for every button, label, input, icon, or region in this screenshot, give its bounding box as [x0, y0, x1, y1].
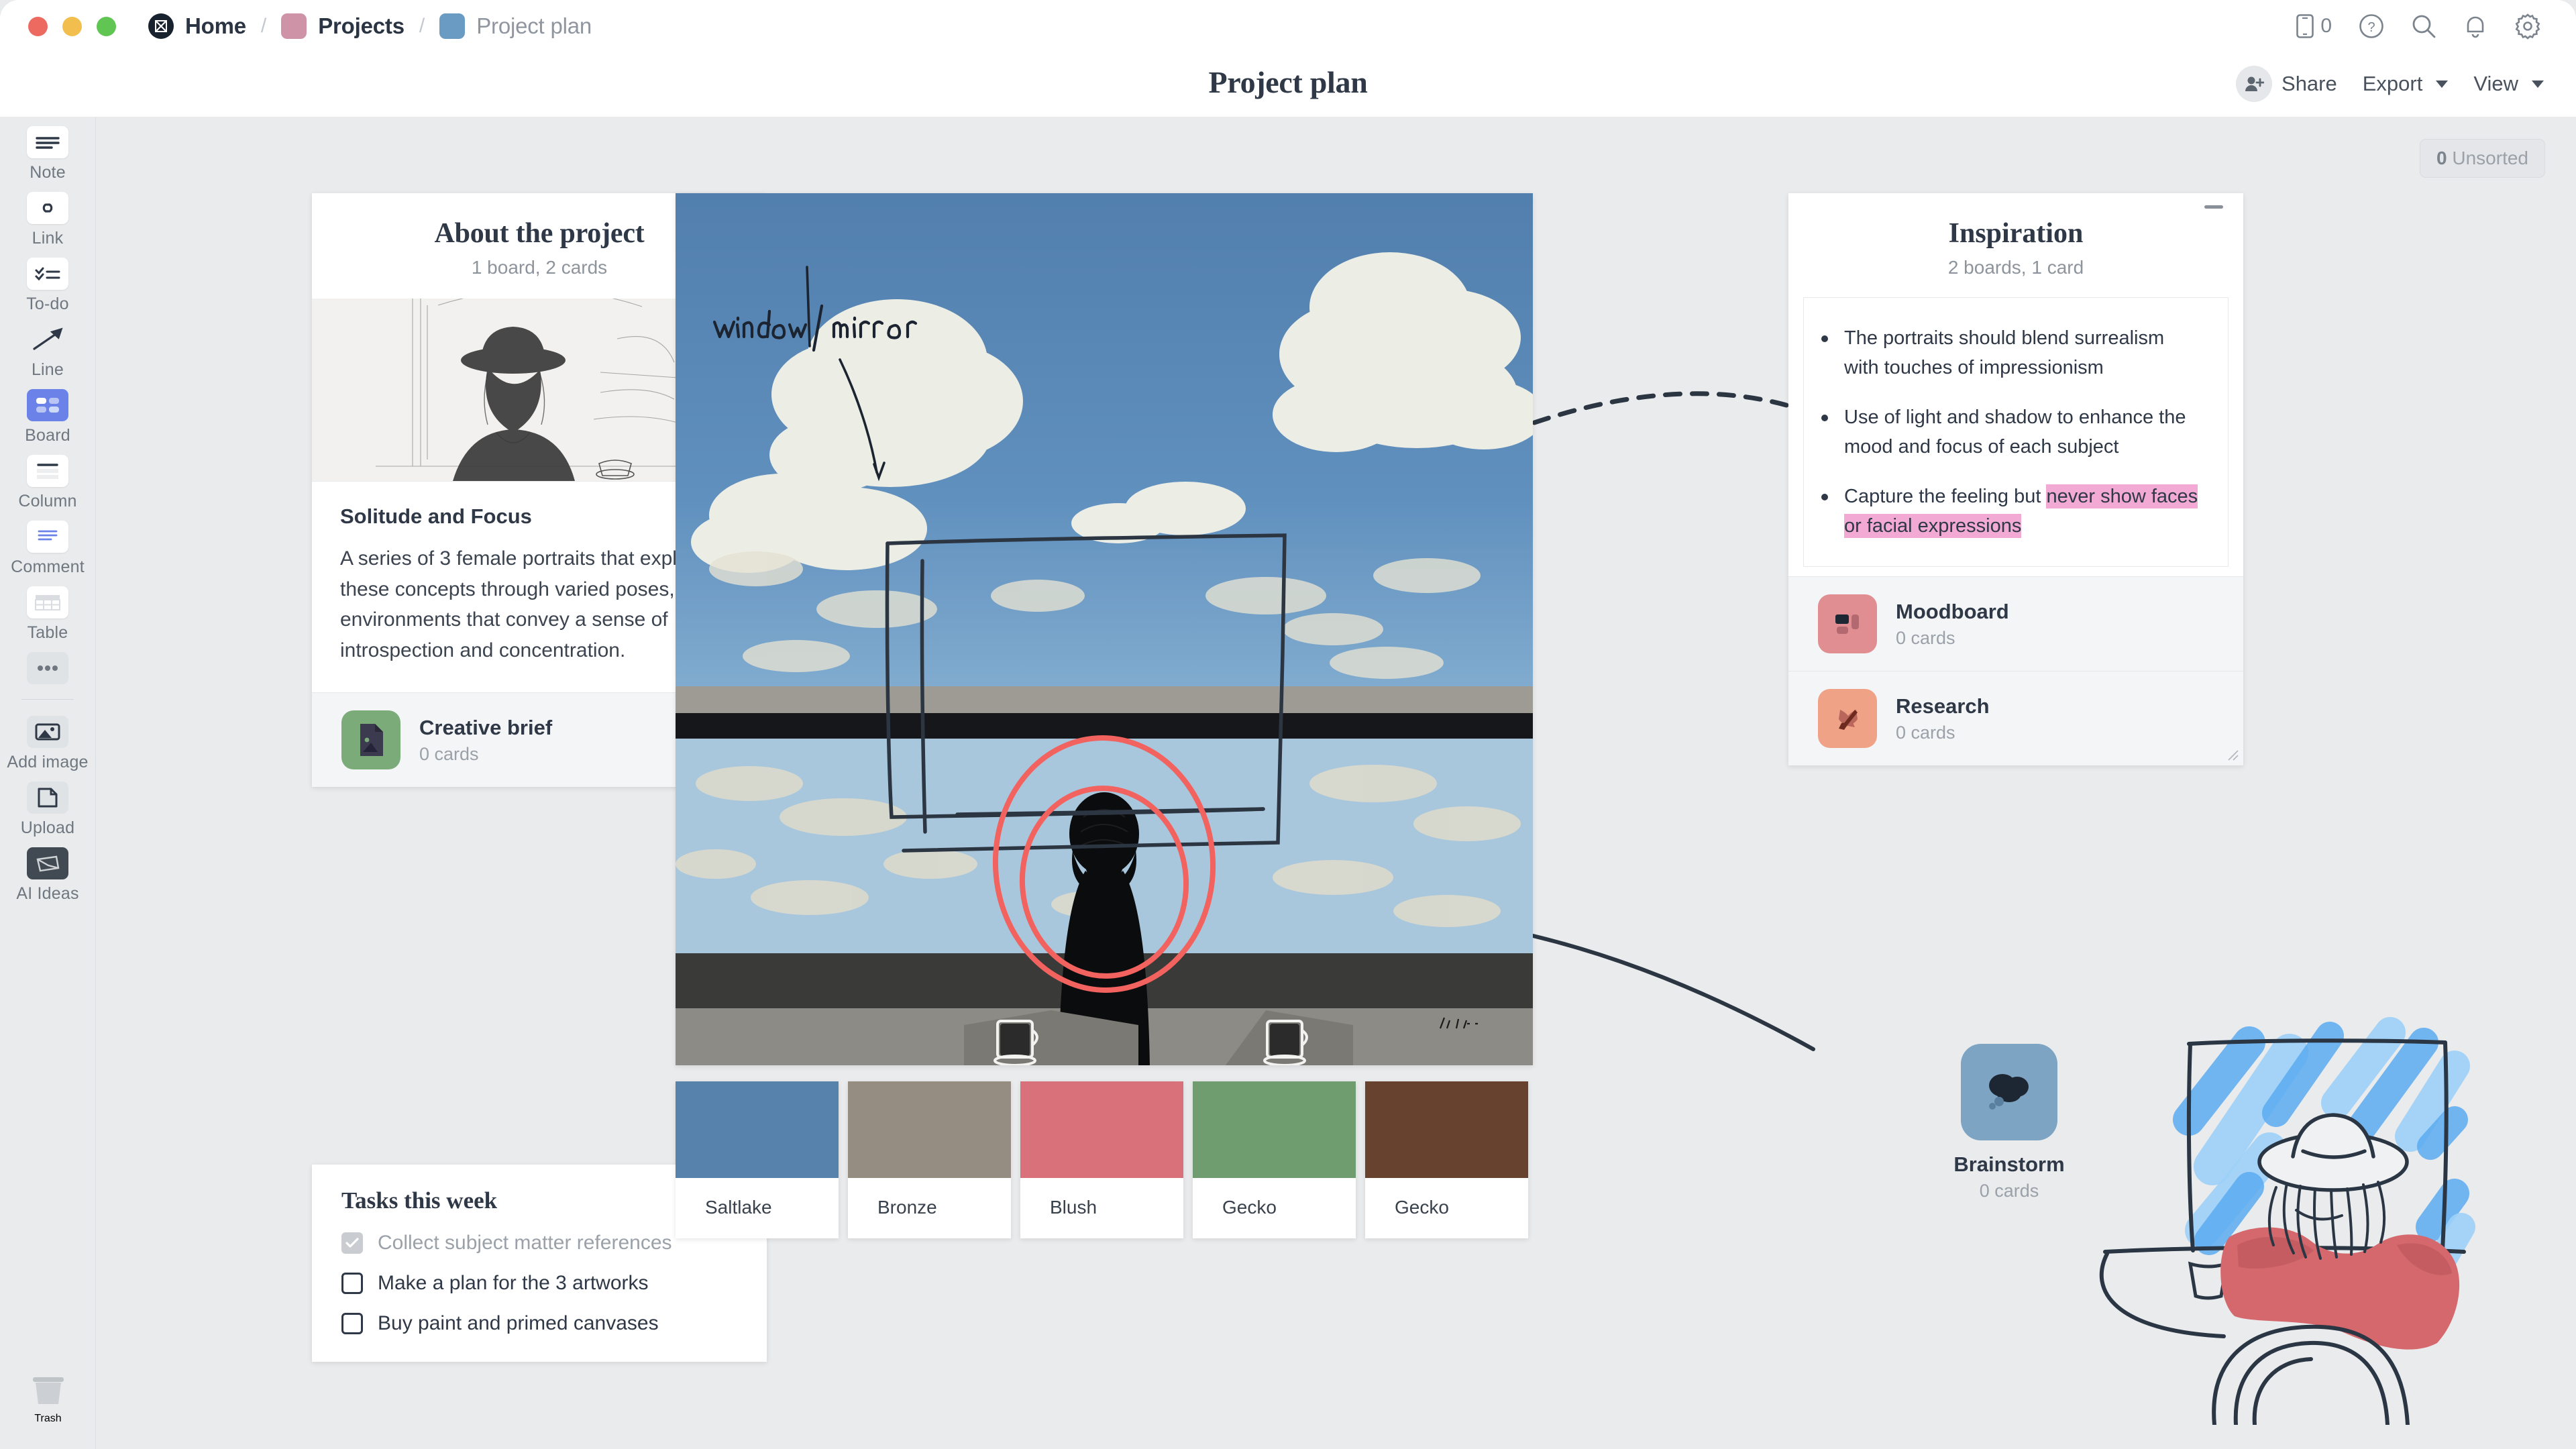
board-canvas[interactable]: 0 Unsorted About the project 1 board, 2 …	[96, 117, 2576, 1449]
chevron-down-icon	[2532, 80, 2544, 88]
tool-label-todo: To-do	[26, 294, 69, 314]
breadcrumb-item-home[interactable]: Home	[148, 13, 246, 39]
add-person-icon	[2236, 66, 2272, 102]
tool-board[interactable]: Board	[0, 389, 96, 445]
help-icon[interactable]: ?	[2359, 13, 2384, 39]
thought-cloud-icon	[1961, 1044, 2057, 1140]
inspiration-panel[interactable]: Inspiration 2 boards, 1 card The portrai…	[1788, 193, 2243, 765]
bullet-item: Capture the feeling but never show faces…	[1821, 482, 2204, 541]
board-brainstorm[interactable]: Brainstorm 0 cards	[1932, 1044, 2086, 1201]
tool-label-line: Line	[32, 360, 64, 380]
share-label: Share	[2282, 72, 2337, 96]
task-item[interactable]: Make a plan for the 3 artworks	[341, 1272, 737, 1295]
board-name: Brainstorm	[1932, 1152, 2086, 1177]
swatch-color	[848, 1081, 1011, 1178]
tool-line[interactable]: Line	[0, 323, 96, 380]
inspiration-header: Inspiration 2 boards, 1 card	[1788, 193, 2243, 297]
titlebar-actions: 0 ?	[2296, 13, 2541, 40]
bullet-dot-icon	[1821, 335, 1828, 342]
traffic-lights	[28, 17, 116, 36]
board-link-text: Moodboard 0 cards	[1896, 600, 2009, 649]
swatch-card[interactable]: Blush	[1020, 1081, 1183, 1238]
swatch-color	[676, 1081, 839, 1178]
board-count: 0 cards	[1932, 1181, 2086, 1201]
tool-note[interactable]: Note	[0, 126, 96, 182]
breadcrumb-label-home: Home	[185, 13, 246, 39]
bullet-text-plain: Capture the feeling but	[1844, 486, 2046, 507]
swatch-name: Blush	[1020, 1178, 1183, 1238]
trash-icon	[28, 1372, 69, 1413]
swatch-name: Bronze	[848, 1178, 1011, 1238]
tool-label-column: Column	[18, 492, 76, 511]
tool-label-upload: Upload	[21, 818, 74, 838]
more-dots-icon	[27, 652, 68, 684]
column-icon	[27, 455, 68, 487]
board-link-name: Moodboard	[1896, 600, 2009, 623]
board-link-moodboard[interactable]: Moodboard 0 cards	[1788, 576, 2243, 671]
swatch-color	[1020, 1081, 1183, 1178]
breadcrumb-label-projects: Projects	[318, 13, 405, 39]
minimize-window-button[interactable]	[62, 17, 82, 36]
tool-add-image[interactable]: Add image	[0, 716, 96, 772]
ai-ideas-icon	[27, 847, 68, 879]
bullet-text: Use of light and shadow to enhance the m…	[1844, 402, 2204, 462]
checkbox-icon[interactable]	[341, 1313, 363, 1334]
resize-handle[interactable]	[2224, 747, 2239, 761]
board-link-count: 0 cards	[1896, 628, 2009, 649]
swatch-name: Gecko	[1365, 1178, 1528, 1238]
bullet-item: Use of light and shadow to enhance the m…	[1821, 402, 2204, 462]
zoom-window-button[interactable]	[97, 17, 116, 36]
todo-icon	[27, 258, 68, 290]
board-link-text: Creative brief 0 cards	[419, 716, 552, 765]
search-icon[interactable]	[2411, 13, 2436, 39]
comment-icon	[27, 521, 68, 553]
upload-file-icon	[27, 782, 68, 814]
tool-upload[interactable]: Upload	[0, 782, 96, 838]
rail-divider	[21, 699, 74, 700]
bell-icon[interactable]	[2463, 13, 2487, 39]
bullet-dot-icon	[1821, 494, 1828, 500]
mobile-icon[interactable]: 0	[2296, 14, 2332, 38]
breadcrumb-separator-2: /	[419, 15, 425, 38]
table-icon	[27, 586, 68, 619]
tool-table[interactable]: Table	[0, 586, 96, 643]
tool-label-board: Board	[25, 426, 70, 445]
swatch-name: Saltlake	[676, 1178, 839, 1238]
tool-more[interactable]	[0, 652, 96, 684]
board-link-count: 0 cards	[419, 744, 552, 765]
line-arrow-icon	[27, 323, 68, 356]
checkbox-icon[interactable]	[341, 1273, 363, 1294]
checkbox-checked-icon[interactable]	[341, 1232, 363, 1254]
tool-label-ai-ideas: AI Ideas	[16, 884, 78, 904]
bullet-text-mixed: Capture the feeling but never show faces…	[1844, 482, 2204, 541]
breadcrumb: Home / Projects / Project plan	[148, 13, 592, 39]
tool-label-note: Note	[30, 163, 66, 182]
bullet-item: The portraits should blend surrealism wi…	[1821, 323, 2204, 382]
export-label: Export	[2363, 72, 2423, 96]
inspiration-subtitle: 2 boards, 1 card	[1788, 257, 2243, 278]
swatch-color	[1365, 1081, 1528, 1178]
sketch-illustration[interactable]	[2075, 996, 2491, 1425]
bullet-dot-icon	[1821, 415, 1828, 421]
moodboard-icon	[1818, 594, 1877, 653]
title-bar: Home / Projects / Project plan 0 ?	[0, 0, 2576, 52]
app-logo-icon	[148, 13, 174, 39]
export-button[interactable]: Export	[2363, 72, 2449, 96]
chevron-down-icon	[2436, 80, 2448, 88]
tool-comment[interactable]: Comment	[0, 521, 96, 577]
board-link-text: Research 0 cards	[1896, 694, 1990, 743]
tool-label-table: Table	[28, 623, 68, 643]
unsorted-label: Unsorted	[2452, 148, 2528, 168]
app-window: Home / Projects / Project plan 0 ?	[0, 0, 2576, 1449]
tool-todo[interactable]: To-do	[0, 258, 96, 314]
task-label: Buy paint and primed canvases	[378, 1312, 659, 1335]
swatch-card[interactable]: Saltlake	[676, 1081, 839, 1238]
inspiration-title: Inspiration	[1788, 217, 2243, 250]
close-window-button[interactable]	[28, 17, 48, 36]
swatch-card[interactable]: Gecko	[1193, 1081, 1356, 1238]
link-icon	[27, 192, 68, 224]
artwork-painting	[676, 193, 1533, 1065]
tool-rail: Note Link To-do Line Board	[0, 117, 96, 1449]
tool-label-link: Link	[32, 229, 64, 248]
swatch-name: Gecko	[1193, 1178, 1356, 1238]
tool-column[interactable]: Column	[0, 455, 96, 511]
swatch-card[interactable]: Bronze	[848, 1081, 1011, 1238]
view-button[interactable]: View	[2473, 72, 2544, 96]
color-swatches: Saltlake Bronze Blush Gecko Gecko	[676, 1081, 1528, 1238]
swatch-color	[1193, 1081, 1356, 1178]
page-title: Project plan	[0, 64, 2576, 100]
tool-link[interactable]: Link	[0, 192, 96, 248]
tool-label-add-image: Add image	[7, 753, 88, 772]
unsorted-button[interactable]: 0 Unsorted	[2420, 139, 2545, 178]
breadcrumb-item-project-plan[interactable]: Project plan	[439, 13, 592, 39]
task-label: Make a plan for the 3 artworks	[378, 1272, 649, 1295]
breadcrumb-label-project-plan: Project plan	[476, 13, 592, 39]
note-icon	[27, 126, 68, 158]
tool-ai-ideas[interactable]: AI Ideas	[0, 847, 96, 904]
image-file-icon	[341, 710, 400, 769]
breadcrumb-separator: /	[261, 15, 266, 38]
board-link-research[interactable]: Research 0 cards	[1788, 671, 2243, 765]
svg-text:?: ?	[2367, 20, 2375, 35]
task-label: Collect subject matter references	[378, 1232, 672, 1254]
board-link-name: Creative brief	[419, 716, 552, 739]
view-label: View	[2473, 72, 2518, 96]
board-link-name: Research	[1896, 694, 1990, 718]
tool-label-comment: Comment	[11, 557, 85, 577]
swatch-card[interactable]: Gecko	[1365, 1081, 1528, 1238]
bullet-text: The portraits should blend surrealism wi…	[1844, 323, 2204, 382]
page-header: Project plan Share Export View	[0, 52, 2576, 117]
task-item[interactable]: Buy paint and primed canvases	[341, 1312, 737, 1335]
artwork-image[interactable]	[676, 193, 1533, 1065]
share-button[interactable]: Share	[2236, 66, 2337, 102]
gear-icon[interactable]	[2514, 13, 2541, 40]
blue-square-icon	[439, 13, 465, 39]
board-link-count: 0 cards	[1896, 722, 1990, 743]
board-icon	[27, 389, 68, 421]
tool-label-trash: Trash	[34, 1413, 61, 1425]
image-icon	[27, 716, 68, 748]
header-actions: Share Export View	[2236, 66, 2544, 102]
minimize-icon[interactable]	[2204, 205, 2223, 209]
breadcrumb-item-projects[interactable]: Projects	[281, 13, 405, 39]
pink-square-icon	[281, 13, 307, 39]
inspiration-note-card[interactable]: The portraits should blend surrealism wi…	[1803, 297, 2229, 567]
device-count: 0	[2320, 15, 2332, 38]
paintbrush-icon	[1818, 689, 1877, 748]
tool-trash[interactable]: Trash	[0, 1372, 96, 1425]
unsorted-count: 0	[2436, 148, 2447, 168]
sketch-drawing	[2075, 996, 2491, 1425]
